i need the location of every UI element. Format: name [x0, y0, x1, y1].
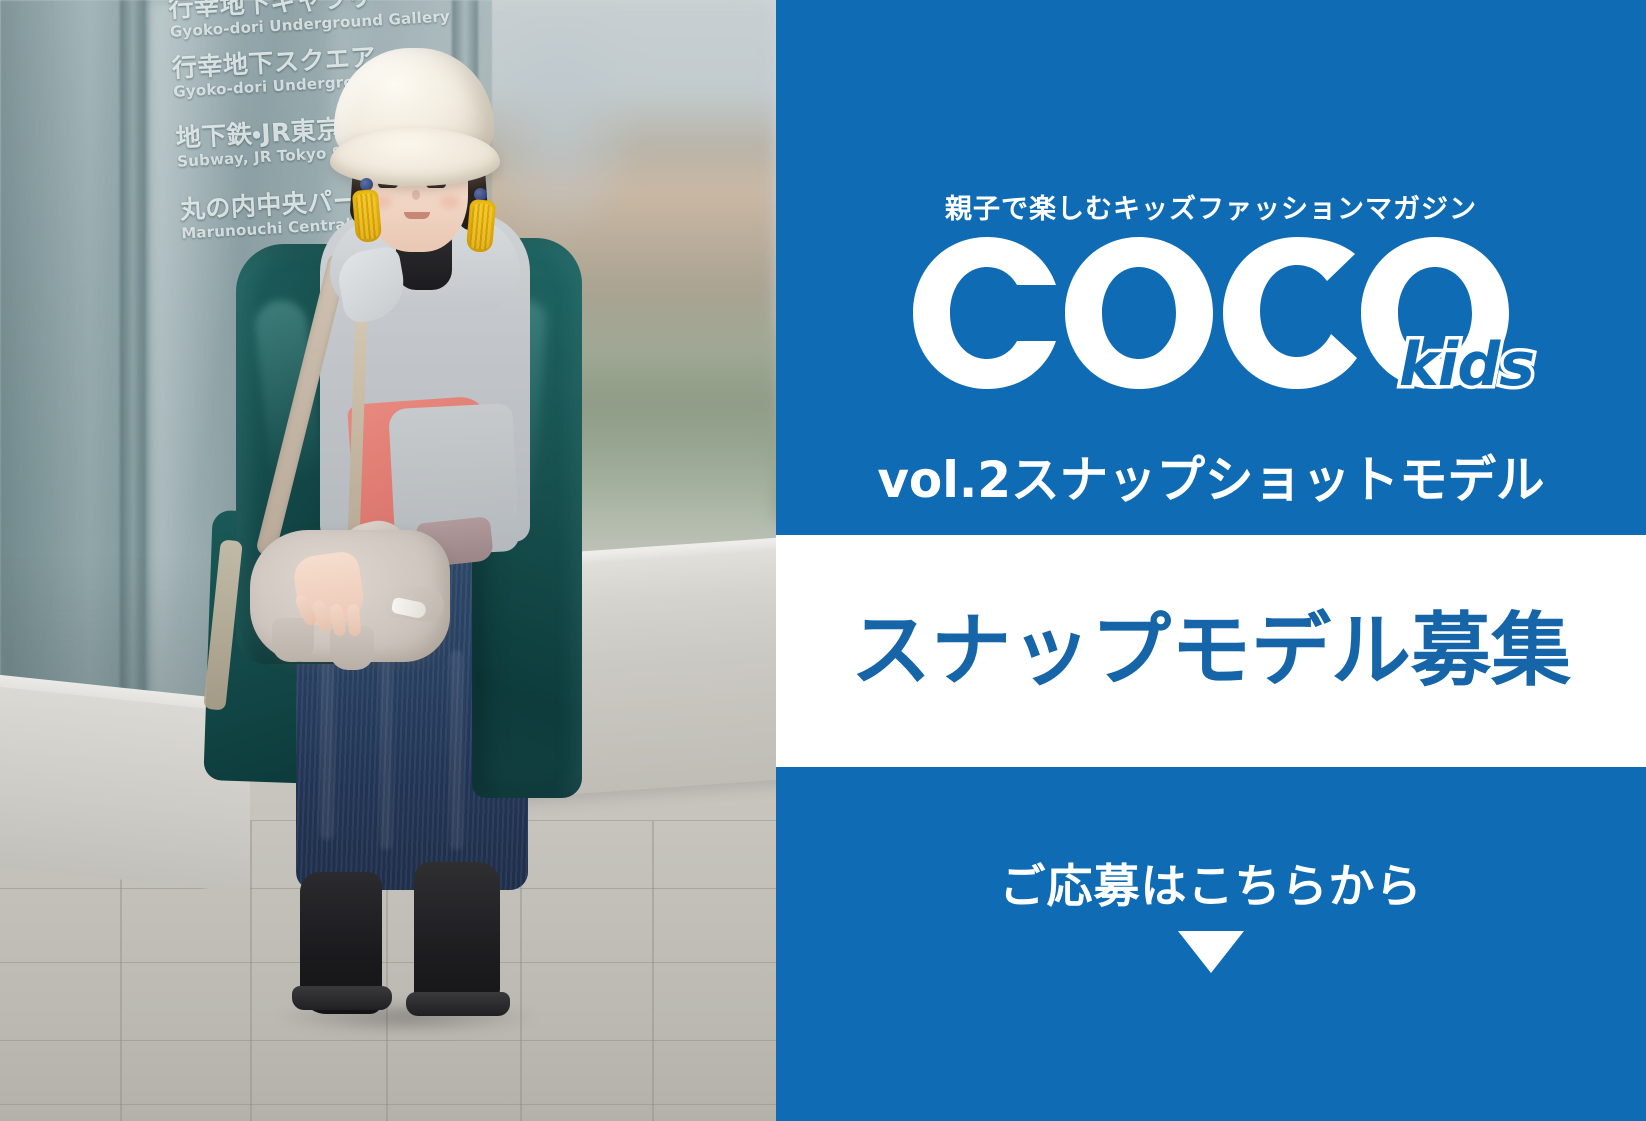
kids-suffix-label: kids — [1399, 335, 1534, 395]
recruitment-title: スナップモデル募集 — [851, 611, 1571, 691]
boot-sole — [292, 986, 392, 1010]
model-cheek — [440, 196, 460, 208]
model-finger — [347, 604, 361, 637]
promo-banner: 行幸地下ギャラリー Gyoko-dori Underground Gallery… — [0, 0, 1646, 1121]
model-figure — [0, 0, 776, 1121]
model-mouth — [404, 212, 430, 219]
recruitment-band: スナップモデル募集 — [776, 535, 1646, 767]
volume-headline: vol.2スナップショットモデル — [877, 455, 1544, 505]
boot-sole — [406, 992, 510, 1016]
brand-lockup: 親子で楽しむキッズファッションマガジン kids — [776, 196, 1646, 389]
pants-fold — [380, 640, 392, 850]
model-photo: 行幸地下ギャラリー Gyoko-dori Underground Gallery… — [0, 0, 776, 1121]
coco-logo: kids — [776, 237, 1646, 389]
pants-fold — [450, 650, 463, 850]
magazine-tagline: 親子で楽しむキッズファッションマガジン — [945, 196, 1477, 223]
apply-cta-label[interactable]: ご応募はこちらから — [1000, 863, 1423, 909]
pants-fold — [320, 660, 334, 840]
triangle-down-icon[interactable] — [1178, 931, 1244, 973]
brand-panel: 親子で楽しむキッズファッションマガジン kids vol.2スナップショットモデ… — [776, 0, 1646, 1121]
tassel-earring — [352, 189, 382, 243]
hat-brim — [330, 128, 500, 186]
model-nose — [412, 190, 420, 200]
tassel-earring — [466, 199, 496, 253]
